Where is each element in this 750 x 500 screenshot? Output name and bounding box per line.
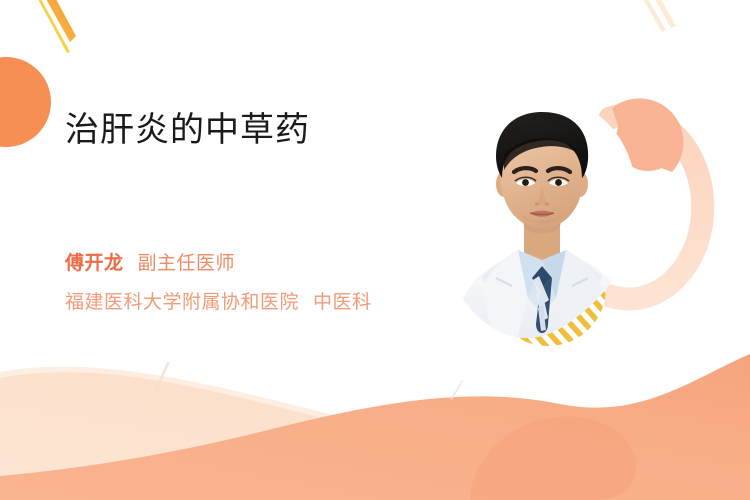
eye-left: [522, 179, 529, 186]
doctor-affiliation-line: 福建医科大学附属协和医院 中医科: [65, 287, 372, 314]
doctor-article-banner: 治肝炎的中草药 傅开龙 副主任医师 福建医科大学附属协和医院 中医科: [0, 0, 750, 500]
orange-circle-left: [0, 57, 51, 147]
doctor-portrait: [432, 92, 652, 357]
doctor-name: 傅开龙: [65, 248, 124, 275]
headline-block: 治肝炎的中草药: [65, 108, 465, 152]
department-name: 中医科: [313, 287, 372, 314]
page-title: 治肝炎的中草药: [65, 108, 465, 152]
portrait-photo: [432, 92, 652, 357]
eye-right: [555, 179, 562, 186]
doctor-rank: 副主任医师: [138, 248, 236, 275]
doctor-credential-line: 傅开龙 副主任医师: [65, 248, 235, 275]
hospital-name: 福建医科大学附属协和医院: [65, 287, 299, 314]
